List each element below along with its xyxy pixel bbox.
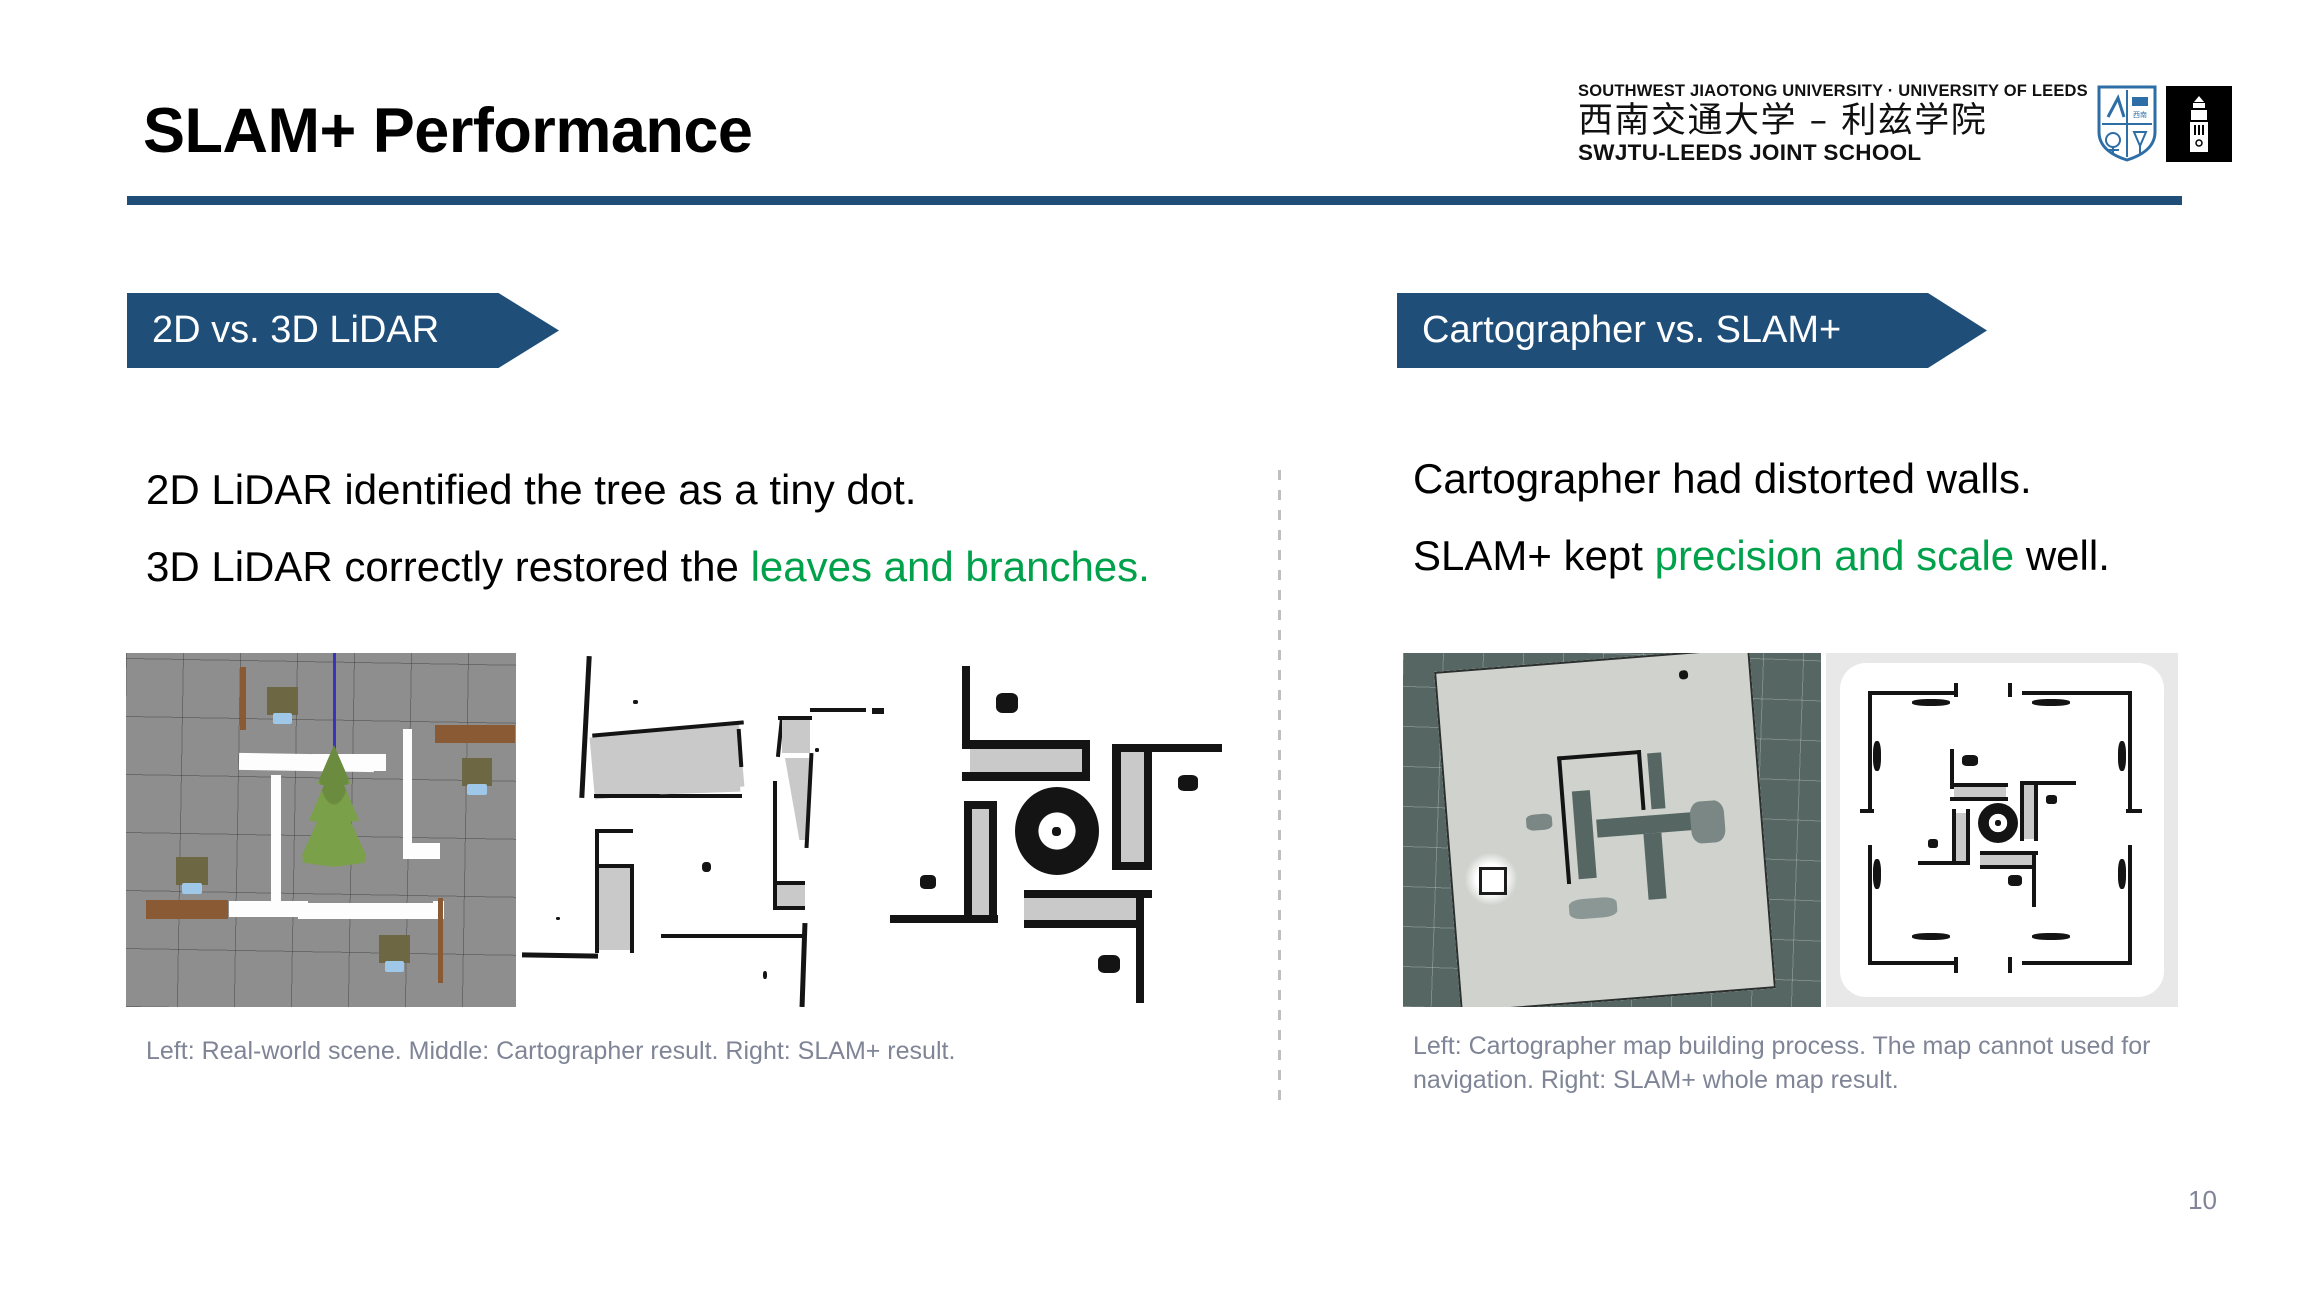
page-title: SLAM+ Performance — [143, 95, 752, 167]
map-wall — [1144, 744, 1152, 869]
map-noise — [1873, 859, 1881, 889]
map-inner-wall — [1950, 797, 2008, 801]
map-free-space — [1121, 752, 1146, 865]
map-noise — [815, 748, 819, 752]
map-outer-wall — [2126, 809, 2142, 813]
left-body-line-2-highlight: leaves and branches. — [751, 543, 1150, 590]
map-wall — [1024, 890, 1152, 898]
figure-slamplus-result-map — [872, 653, 1250, 1007]
map-wall — [1557, 750, 1641, 761]
right-figure-caption: Left: Cartographer map building process.… — [1413, 1030, 2193, 1098]
scene-table — [146, 900, 228, 919]
banner-label-right: Cartographer vs. SLAM+ — [1422, 309, 1841, 352]
map-wall — [810, 708, 866, 712]
figure-cartographer-result-map — [520, 653, 870, 1007]
scene-wall — [229, 901, 308, 917]
map-inner-wall — [1966, 809, 1970, 865]
figure-slamplus-whole-map-result — [1826, 653, 2178, 1007]
map-inner-wall — [1918, 861, 1970, 865]
map-noise — [2008, 875, 2022, 886]
map-noise — [2118, 859, 2126, 889]
map-tree-dot — [702, 862, 711, 872]
right-body-line-2-plain-b: well. — [2014, 532, 2110, 579]
left-body-line-2: 3D LiDAR correctly restored the leaves a… — [146, 540, 1150, 594]
scene-box — [176, 857, 208, 885]
map-wall — [1643, 833, 1666, 900]
institution-logo: SOUTHWEST JIAOTONG UNIVERSITY · UNIVERSI… — [1578, 83, 2232, 164]
map-noise — [1568, 896, 1617, 920]
logo-english-top: SOUTHWEST JIAOTONG UNIVERSITY · UNIVERSI… — [1578, 83, 2088, 100]
map-free-space — [777, 885, 805, 907]
page-number: 10 — [2188, 1185, 2217, 1216]
scene-wall — [403, 729, 412, 852]
map-wall — [1557, 756, 1571, 884]
map-noise — [920, 875, 936, 889]
map-noise — [2032, 699, 2070, 706]
map-background — [1840, 663, 2164, 997]
map-wall — [989, 801, 997, 923]
figure-real-world-scene — [126, 653, 516, 1007]
map-free-space — [782, 720, 810, 753]
map-wall — [595, 829, 633, 833]
map-wall — [962, 666, 970, 748]
map-outer-wall — [2022, 961, 2132, 965]
map-wall — [1112, 862, 1152, 870]
map-outer-wall — [1868, 691, 1958, 695]
map-outer-wall — [2128, 845, 2132, 965]
map-outer-wall — [1954, 957, 1958, 973]
map-inner-wall — [2034, 781, 2038, 841]
right-body-line-2: SLAM+ kept precision and scale well. — [1413, 529, 2110, 583]
logo-wordmark: SOUTHWEST JIAOTONG UNIVERSITY · UNIVERSI… — [1578, 83, 2088, 164]
left-figure-caption: Left: Real-world scene. Middle: Cartogra… — [146, 1035, 955, 1069]
map-noise — [2118, 741, 2126, 771]
scene-box — [462, 758, 492, 786]
map-wall — [773, 906, 805, 910]
map-noise — [1928, 839, 1938, 848]
map-noise — [1689, 800, 1726, 845]
scene-tree-axis — [333, 653, 336, 749]
map-wall — [661, 934, 806, 938]
right-body-line-2-highlight: precision and scale — [1655, 532, 2015, 579]
map-wall — [872, 708, 884, 714]
scene-table — [435, 725, 515, 743]
map-noise — [996, 693, 1018, 713]
scene-box — [379, 935, 410, 963]
map-wall — [1024, 920, 1140, 928]
map-noise — [1526, 813, 1553, 831]
scene-wall — [271, 775, 281, 917]
map-wall — [579, 656, 591, 798]
right-body-line-1: Cartographer had distorted walls. — [1413, 452, 2032, 506]
scene-wall — [312, 754, 386, 771]
map-noise — [1912, 933, 1950, 940]
map-outer-wall — [2022, 691, 2132, 695]
map-wall — [522, 952, 598, 958]
scene-wall — [298, 903, 441, 919]
map-outer-wall — [1860, 809, 1874, 813]
map-wall — [1136, 890, 1144, 1003]
column-divider — [1278, 470, 1281, 1110]
map-noise — [1098, 955, 1120, 973]
logo-english-bottom: SWJTU-LEEDS JOINT SCHOOL — [1578, 142, 1921, 165]
map-noise — [1679, 670, 1689, 680]
map-free-space — [599, 868, 630, 950]
map-wall — [890, 915, 998, 923]
map-outer-wall — [1868, 691, 1872, 811]
partial-occupancy-map — [1434, 653, 1776, 1007]
logo-chinese: 西南交通大学 – 利兹学院 — [1578, 104, 1987, 139]
map-wall — [962, 772, 1090, 781]
map-noise — [2046, 795, 2057, 804]
svg-text:西南: 西南 — [2133, 110, 2147, 119]
map-outer-wall — [2008, 683, 2012, 697]
right-body-line-2-plain-a: SLAM+ kept — [1413, 532, 1655, 579]
map-outer-wall — [1868, 845, 1872, 965]
map-wall — [595, 864, 634, 868]
left-body-line-2-plain: 3D LiDAR correctly restored the — [146, 543, 751, 590]
map-wall — [1112, 744, 1121, 869]
map-outer-wall — [2008, 957, 2012, 973]
map-outer-wall — [1868, 961, 1958, 965]
banner-label-left: 2D vs. 3D LiDAR — [152, 309, 439, 352]
map-noise — [1962, 755, 1978, 766]
map-noise — [1912, 699, 1950, 706]
map-wall — [964, 801, 972, 923]
section-banner-cartographer-vs-slamplus: Cartographer vs. SLAM+ — [1397, 293, 1987, 368]
scene-box — [267, 687, 298, 715]
map-wall — [594, 794, 742, 798]
map-wall — [1637, 750, 1646, 810]
left-body-line-1: 2D LiDAR identified the tree as a tiny d… — [146, 463, 916, 517]
swjtu-crest-icon: 西南 — [2096, 84, 2158, 162]
map-free-space — [970, 749, 1082, 773]
map-noise — [633, 700, 638, 704]
map-tree-center-dot — [1052, 827, 1061, 836]
map-outer-wall — [2128, 691, 2132, 811]
map-outer-wall — [1954, 683, 1958, 697]
title-underline-rule — [127, 196, 2182, 205]
scene-plank — [240, 667, 246, 730]
leeds-tower-icon — [2166, 86, 2232, 162]
map-wall — [1572, 790, 1597, 879]
map-inner-wall — [1980, 865, 2034, 869]
slide-canvas: SLAM+ Performance SOUTHWEST JIAOTONG UNI… — [0, 0, 2309, 1298]
section-banner-2d-vs-3d-lidar: 2D vs. 3D LiDAR — [127, 293, 559, 368]
map-wall — [1647, 752, 1665, 809]
map-inner-wall — [2032, 851, 2036, 907]
map-free-space — [660, 772, 741, 795]
map-free-space — [1024, 898, 1138, 921]
scene-wall — [403, 843, 440, 859]
map-noise — [1178, 775, 1198, 791]
map-wall — [1112, 744, 1222, 752]
map-noise — [1873, 741, 1881, 771]
robot-pose-marker — [1465, 853, 1517, 905]
figure-cartographer-map-building-process — [1403, 653, 1821, 1007]
map-wall — [962, 740, 1090, 749]
map-noise — [763, 971, 767, 979]
scene-plank — [438, 898, 443, 983]
map-noise — [2032, 933, 2070, 940]
map-noise — [556, 917, 560, 920]
map-tree-center-dot — [1995, 820, 2001, 826]
map-wall — [1082, 740, 1090, 781]
map-wall — [630, 866, 634, 953]
